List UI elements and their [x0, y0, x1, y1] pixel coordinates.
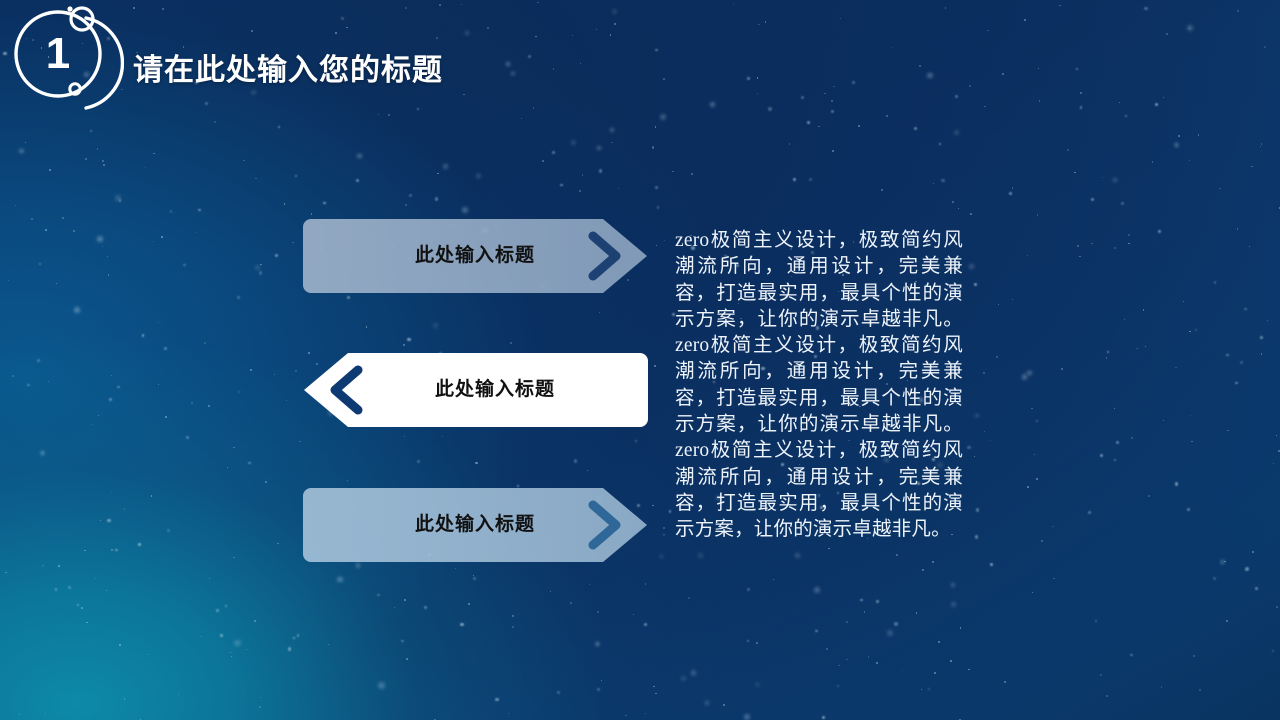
page-title: 请在此处输入您的标题: [133, 45, 443, 89]
banner-item-2[interactable]: 此处输入标题: [303, 353, 648, 427]
slide-canvas: 1 请在此处输入您的标题 此处输入标题: [0, 0, 1280, 720]
banner-label-3: 此处输入标题: [335, 488, 615, 562]
banner-label-2: 此处输入标题: [355, 353, 635, 427]
slide-number-badge: 1: [8, 2, 124, 118]
banner-item-1[interactable]: 此处输入标题: [303, 219, 648, 293]
banner-item-3[interactable]: 此处输入标题: [303, 488, 648, 562]
slide-number-text: 1: [20, 16, 96, 92]
body-paragraph: zero极简主义设计，极致简约风潮流所向，通用设计，完美兼容，打造最实用，最具个…: [675, 228, 963, 544]
banner-label-1: 此处输入标题: [335, 219, 615, 293]
